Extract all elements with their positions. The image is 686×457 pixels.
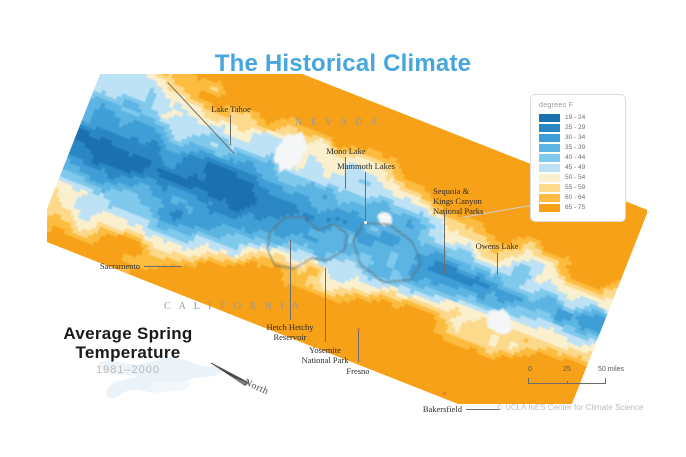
scale-label-start: 0 [528,366,532,373]
label-mono-lake: Mono Lake [311,146,381,156]
legend-swatch [539,204,560,212]
label-sequoia-line3: National Parks [433,206,523,216]
legend-row: 19 - 24 [539,113,617,122]
legend-swatch [539,144,560,152]
leader-line-owens-lake [497,253,498,275]
title-block: Average Spring Temperature 1981–2000 [38,324,218,376]
legend-swatch [539,164,560,172]
leader-line-bakersfield [466,409,500,410]
legend-swatch [539,124,560,132]
scale-label-mid: 25 [563,366,571,373]
legend-label: 25 - 29 [565,124,585,131]
label-hetch-hetchy: Hetch Hetchy Reservoir [245,322,335,342]
label-sequoia-line2: Kings Canyon [433,196,523,206]
leader-line-sacramento [144,266,182,267]
legend-label: 19 - 24 [565,114,585,121]
label-sequoia-kings-canyon: Sequoia & Kings Canyon National Parks [433,186,523,216]
label-yosemite-line1: Yosemite [280,345,370,355]
credit-text: © UCLA IoES Center for Climate Science [497,403,643,412]
leader-line-sequoia [444,212,445,274]
legend-row: 50 - 54 [539,173,617,182]
scale-bar-graphic [528,378,606,384]
legend-label: 35 - 39 [565,144,585,151]
label-lake-tahoe: Lake Tahoe [196,104,266,114]
label-state-nevada: N E V A D A [295,117,381,128]
label-hetch-line2: Reservoir [245,332,335,342]
legend-swatch [539,114,560,122]
label-owens-lake: Owens Lake [462,241,532,251]
leader-line-mammoth-lakes [365,172,366,222]
label-hetch-line1: Hetch Hetchy [245,322,335,332]
label-fresno: Fresno [329,366,387,376]
legend-row: 35 - 39 [539,143,617,152]
legend-label: 40 - 44 [565,154,585,161]
legend-label: 60 - 64 [565,194,585,201]
legend-row: 55 - 59 [539,183,617,192]
legend-label: 55 - 59 [565,184,585,191]
legend-label: 50 - 54 [565,174,585,181]
legend-swatch [539,174,560,182]
label-state-california: C A L I F O R N I A [164,301,302,312]
label-sacramento: Sacramento [72,261,140,271]
label-sequoia-line1: Sequoia & [433,186,523,196]
legend-label: 30 - 34 [565,134,585,141]
legend-swatch [539,134,560,142]
title-block-line2: Temperature [38,343,218,362]
legend-rows: 19 - 2425 - 2930 - 3435 - 3940 - 4445 - … [539,113,617,212]
legend-row: 65 - 75 [539,203,617,212]
label-mammoth-lakes: Mammoth Lakes [318,161,414,171]
north-arrow: North [205,355,295,397]
legend-row: 30 - 34 [539,133,617,142]
legend-title: degrees F [539,102,617,109]
label-bakersfield: Bakersfield [396,404,462,414]
title-block-years: 1981–2000 [38,364,218,376]
legend-swatch [539,184,560,192]
scale-label-end: 50 miles [598,366,624,373]
map-figure: The Historical Climate Lake Tahoe Mono L… [0,0,686,457]
title-block-line1: Average Spring [38,324,218,343]
legend-row: 45 - 49 [539,163,617,172]
page-title: The Historical Climate [0,50,686,78]
legend-row: 25 - 29 [539,123,617,132]
scale-bar-labels: 0 25 50 miles [528,366,620,376]
legend-swatch [539,154,560,162]
legend-swatch [539,194,560,202]
legend: degrees F 19 - 2425 - 2930 - 3435 - 3940… [530,94,626,222]
city-dot-bakersfield [443,392,446,395]
legend-label: 45 - 49 [565,164,585,171]
city-dot-fresno [357,328,360,331]
legend-label: 65 - 75 [565,204,585,211]
legend-row: 60 - 64 [539,193,617,202]
legend-row: 40 - 44 [539,153,617,162]
city-dot-mammoth-lakes [364,221,367,224]
leader-line-lake-tahoe [230,115,231,145]
scale-bar: 0 25 50 miles [528,366,620,388]
